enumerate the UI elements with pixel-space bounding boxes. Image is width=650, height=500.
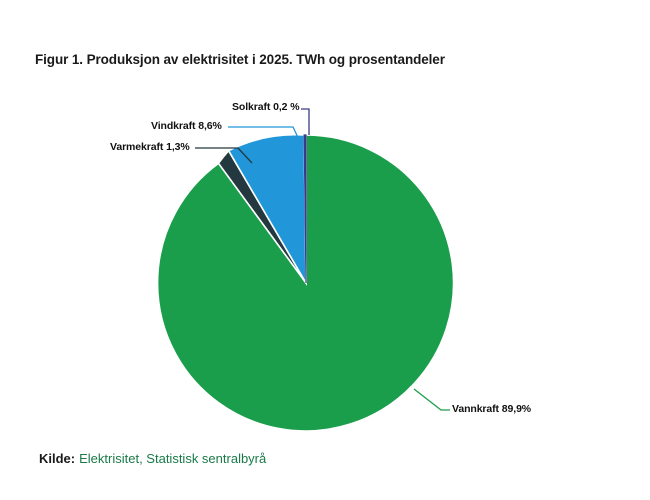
source-link[interactable]: Elektrisitet, Statistisk sentralbyrå [79, 451, 266, 466]
pie-chart [0, 0, 650, 500]
pie-label-vannkraft: Vannkraft 89,9% [452, 403, 531, 415]
figure-container: Figur 1. Produksjon av elektrisitet i 20… [0, 0, 650, 500]
leader-line-solkraft [301, 109, 309, 135]
pie-label-varmekraft: Varmekraft 1,3% [110, 141, 190, 153]
source-line: Kilde:Elektrisitet, Statistisk sentralby… [39, 451, 266, 466]
source-label: Kilde: [39, 451, 75, 466]
pie-label-solkraft: Solkraft 0,2 % [232, 101, 299, 113]
leader-line-vannkraft [414, 389, 450, 410]
pie-label-vindkraft: Vindkraft 8,6% [151, 120, 222, 132]
